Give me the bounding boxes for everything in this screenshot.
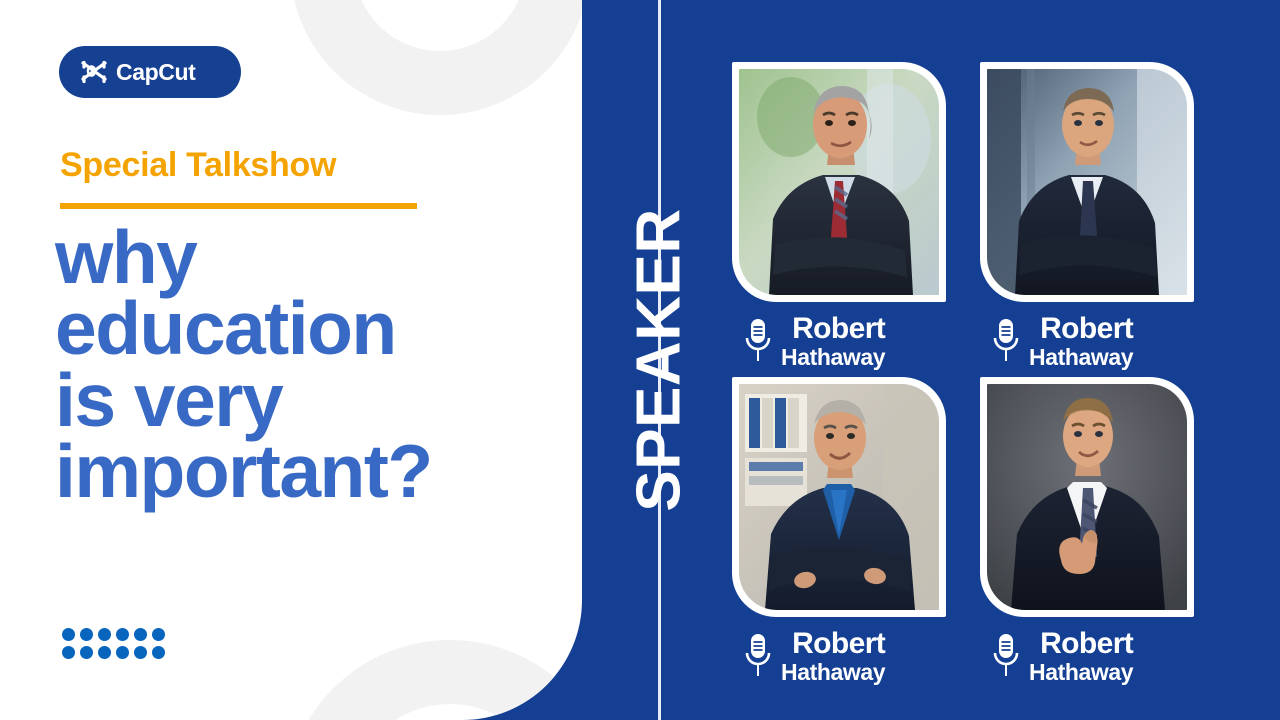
capcut-bowtie-icon bbox=[81, 60, 107, 84]
speaker-first-name: Robert bbox=[792, 629, 885, 659]
dot bbox=[152, 646, 165, 659]
speaker-first-name: Robert bbox=[1040, 629, 1133, 659]
speaker-name-row: Robert Hathaway bbox=[980, 629, 1230, 685]
decor-ring-top bbox=[290, 0, 582, 115]
eyebrow-label: Special Talkshow bbox=[60, 148, 336, 182]
speaker-grid: Robert Hathaway bbox=[724, 62, 1264, 682]
speaker-card-4[interactable]: Robert Hathaway bbox=[980, 377, 1230, 685]
speaker-last-name: Hathaway bbox=[781, 659, 885, 685]
speaker-last-name: Hathaway bbox=[1029, 344, 1133, 370]
photo-frame bbox=[732, 377, 946, 617]
dot bbox=[116, 628, 129, 641]
speaker-last-name: Hathaway bbox=[781, 344, 885, 370]
headline-line-4: important? bbox=[55, 436, 555, 507]
speaker-first-name: Robert bbox=[1040, 314, 1133, 344]
dot bbox=[80, 628, 93, 641]
speaker-photo-4 bbox=[987, 384, 1187, 610]
dot bbox=[80, 646, 93, 659]
dot bbox=[134, 646, 147, 659]
speaker-photo-1 bbox=[739, 69, 939, 295]
microphone-icon bbox=[744, 632, 772, 678]
decor-ring-bottom bbox=[285, 640, 582, 720]
speaker-photo-3 bbox=[739, 384, 939, 610]
speaker-last-name: Hathaway bbox=[1029, 659, 1133, 685]
speaker-first-name: Robert bbox=[792, 314, 885, 344]
speaker-name-row: Robert Hathaway bbox=[732, 629, 982, 685]
decor-dot-grid bbox=[62, 628, 170, 664]
speaker-section-label: SPEAKER bbox=[622, 215, 698, 505]
dot bbox=[62, 646, 75, 659]
capcut-wordmark: CapCut bbox=[116, 61, 195, 84]
headline-line-2: education bbox=[55, 293, 555, 364]
headline-line-3: is very bbox=[55, 365, 555, 436]
photo-frame bbox=[980, 377, 1194, 617]
headline-line-1: why bbox=[55, 222, 555, 293]
speaker-section-label-text: SPEAKER bbox=[629, 208, 691, 511]
dot bbox=[98, 646, 111, 659]
speaker-name-row: Robert Hathaway bbox=[732, 314, 982, 370]
dot bbox=[98, 628, 111, 641]
microphone-icon bbox=[992, 317, 1020, 363]
dot bbox=[116, 646, 129, 659]
microphone-icon bbox=[992, 632, 1020, 678]
eyebrow-underline bbox=[60, 203, 417, 209]
photo-frame bbox=[980, 62, 1194, 302]
dot bbox=[62, 628, 75, 641]
speaker-card-3[interactable]: Robert Hathaway bbox=[732, 377, 982, 685]
dot bbox=[134, 628, 147, 641]
speaker-card-1[interactable]: Robert Hathaway bbox=[732, 62, 982, 370]
speaker-card-2[interactable]: Robert Hathaway bbox=[980, 62, 1230, 370]
microphone-icon bbox=[744, 317, 772, 363]
headline: why education is very important? bbox=[55, 222, 555, 507]
dot bbox=[152, 628, 165, 641]
capcut-logo-badge[interactable]: CapCut bbox=[59, 46, 241, 98]
photo-frame bbox=[732, 62, 946, 302]
speaker-name-row: Robert Hathaway bbox=[980, 314, 1230, 370]
speaker-photo-2 bbox=[987, 69, 1187, 295]
slide-canvas: CapCut Special Talkshow why education is… bbox=[0, 0, 1280, 720]
